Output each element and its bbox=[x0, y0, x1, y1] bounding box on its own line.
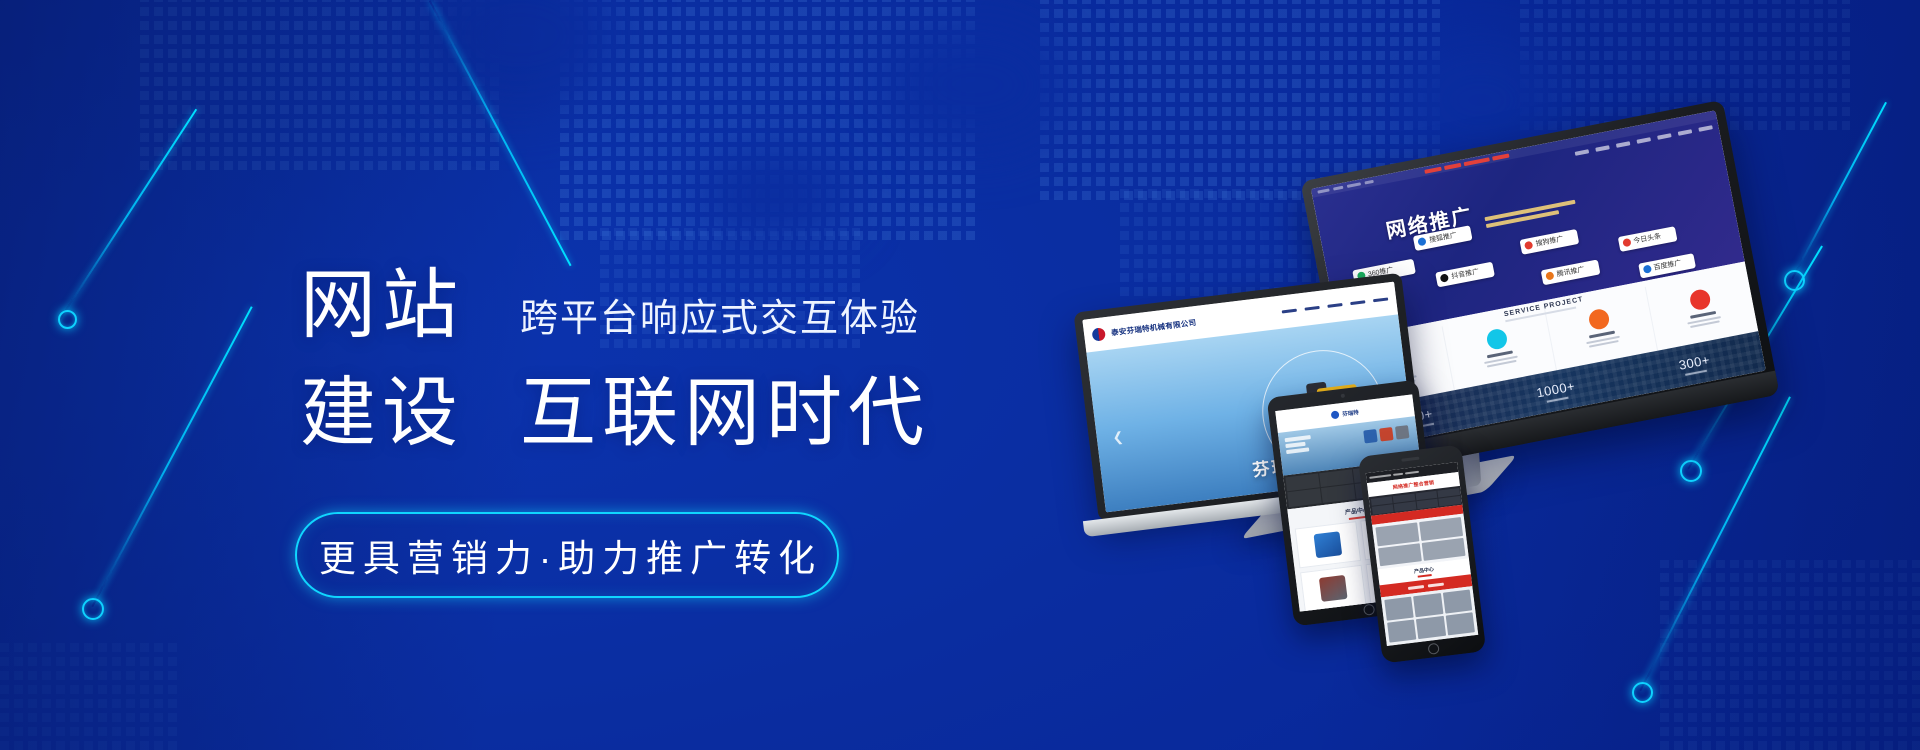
tablet-logo-icon bbox=[1331, 411, 1340, 420]
device-mockup-group: 网络推广 搜狐推广 360推广 搜狗推广 bbox=[1090, 120, 1850, 720]
tagline-badge-label: 更具营销力·助力推广转化 bbox=[312, 528, 822, 582]
headline-primary-line2: 建设 bbox=[300, 376, 464, 452]
tablet-home-button-icon[interactable] bbox=[1363, 604, 1375, 616]
partner-logo[interactable]: 今日头条 bbox=[1617, 226, 1677, 252]
streak-node-2 bbox=[82, 598, 104, 620]
streak-node-1 bbox=[58, 310, 77, 329]
stat-item: 1000+ bbox=[1535, 378, 1577, 404]
partner-logo[interactable]: 搜狗推广 bbox=[1520, 229, 1580, 255]
headline-row-1: 网站 跨平台响应式交互体验 bbox=[300, 268, 1060, 344]
phone-home-button-icon[interactable] bbox=[1428, 643, 1440, 655]
partner-logo-label: 百度推广 bbox=[1653, 258, 1682, 273]
monitor-site-topbar bbox=[1311, 110, 1717, 197]
headline-secondary: 互联网时代 bbox=[520, 376, 930, 452]
company-logo-icon bbox=[1092, 327, 1106, 341]
tablet-site-brand: 芬瑞特 bbox=[1342, 408, 1359, 418]
partner-logo-label: 搜狗推广 bbox=[1535, 234, 1564, 249]
monitor-hero-subtitle bbox=[1484, 200, 1576, 228]
service-card-icon bbox=[1486, 327, 1509, 350]
service-card-icon bbox=[1688, 288, 1711, 311]
tablet-camera-icon bbox=[1341, 394, 1345, 398]
service-card-icon bbox=[1587, 307, 1610, 330]
banner-canvas: 网站 跨平台响应式交互体验 建设 互联网时代 更具营销力·助力推广转化 bbox=[0, 0, 1920, 750]
partner-logo[interactable]: 腾讯推广 bbox=[1541, 259, 1601, 285]
headline-primary-line1: 网站 bbox=[300, 268, 464, 344]
laptop-site-menu[interactable] bbox=[1282, 297, 1389, 314]
phone-speaker-icon bbox=[1401, 457, 1419, 462]
partner-logo-label: 搜狐推广 bbox=[1428, 230, 1457, 245]
tagline-badge[interactable]: 更具营销力·助力推广转化 bbox=[295, 512, 839, 598]
product-card[interactable] bbox=[1300, 565, 1366, 612]
partner-logo[interactable]: 抖音推广 bbox=[1435, 262, 1495, 288]
stat-value: 1000+ bbox=[1535, 378, 1576, 400]
headline-block: 网站 跨平台响应式交互体验 建设 互联网时代 bbox=[300, 268, 1060, 452]
laptop-site-brand: 泰安芬瑞特机械有限公司 bbox=[1110, 317, 1197, 338]
partner-logo-label: 今日头条 bbox=[1633, 231, 1662, 246]
partner-logo-label: 腾讯推广 bbox=[1556, 265, 1585, 280]
product-card[interactable] bbox=[1295, 521, 1361, 568]
carousel-prev-icon[interactable]: ❮ bbox=[1112, 429, 1125, 446]
phone-screen: 网络推广整合营销 产品中心 bbox=[1366, 462, 1479, 646]
stat-item: 300+ bbox=[1677, 352, 1711, 377]
headline-subtitle: 跨平台响应式交互体验 bbox=[520, 300, 920, 344]
partner-logo-label: 抖音推广 bbox=[1451, 267, 1480, 282]
phone-gallery-grid bbox=[1381, 586, 1478, 646]
headline-row-2: 建设 互联网时代 bbox=[300, 376, 1060, 452]
